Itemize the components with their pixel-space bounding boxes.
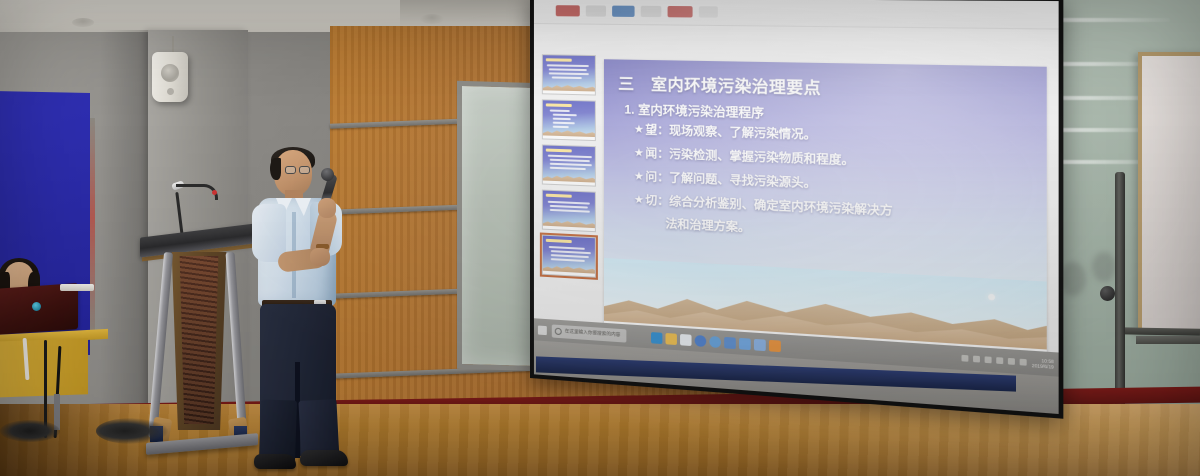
search-input[interactable]: 在这里输入你要搜索的内容 bbox=[552, 324, 627, 342]
thumbnail-text-line bbox=[550, 110, 570, 112]
thumbnail-title-bar bbox=[546, 194, 572, 198]
presenter-shoe-right bbox=[300, 450, 348, 466]
lecture-hall-scene: 三 室内环境污染治理要点 1. 室内环境污染治理程序 ★ 望：现场观察、了解污染… bbox=[0, 0, 1200, 476]
ribbon-tab[interactable] bbox=[586, 5, 606, 16]
projection-screen: 三 室内环境污染治理要点 1. 室内环境污染治理程序 ★ 望：现场观察、了解污染… bbox=[530, 0, 1063, 419]
podium-rail bbox=[148, 252, 173, 438]
floor-cable-bundle bbox=[96, 418, 168, 444]
thumbnail-text-line bbox=[548, 201, 590, 204]
search-icon bbox=[555, 327, 562, 335]
thumbnail-text-line bbox=[550, 163, 592, 166]
glass-reflection-blob bbox=[1060, 262, 1086, 296]
thumbnail-text-line bbox=[552, 76, 582, 78]
thumbnail-base bbox=[543, 135, 596, 140]
chevron-up-icon[interactable] bbox=[985, 356, 992, 363]
word-icon[interactable] bbox=[724, 336, 736, 348]
thumbnail-text-line bbox=[550, 167, 586, 170]
ribbon-tab[interactable] bbox=[668, 6, 693, 18]
explorer-icon[interactable] bbox=[665, 332, 676, 344]
presenter-shoe-left bbox=[254, 454, 296, 469]
seated-attendee bbox=[0, 262, 108, 382]
speaker-tweeter-icon bbox=[167, 88, 174, 95]
thumbnail-text-line bbox=[549, 68, 587, 70]
start-button-icon[interactable] bbox=[538, 325, 547, 335]
list-item[interactable] bbox=[542, 99, 596, 141]
powerpoint-icon[interactable] bbox=[754, 338, 766, 350]
thumbnail-title-bar bbox=[546, 149, 572, 152]
thumbnail-text-line bbox=[551, 254, 589, 258]
active-slide[interactable]: 三 室内环境污染治理要点 1. 室内环境污染治理程序 ★ 望：现场观察、了解污染… bbox=[604, 59, 1047, 367]
podium-mic-indicator-icon bbox=[212, 190, 217, 195]
glasses-icon bbox=[299, 166, 310, 174]
whiteboard-support-arm bbox=[1118, 327, 1200, 335]
thumbnail-title-bar bbox=[546, 58, 572, 61]
thumbnail-text-line bbox=[553, 114, 577, 116]
slide-thumbnail-rail[interactable] bbox=[542, 54, 598, 345]
speaker-cone-icon bbox=[161, 64, 179, 82]
thumbnail-title-bar bbox=[546, 239, 572, 243]
presenter-hair-side bbox=[270, 158, 281, 180]
star-bullet-icon: ★ bbox=[635, 193, 644, 208]
thumbnail-text-line bbox=[549, 72, 589, 74]
edge-icon[interactable] bbox=[651, 332, 662, 344]
thumbnail-text-line bbox=[551, 258, 585, 261]
thumbnail-text-line bbox=[548, 155, 592, 158]
presenter bbox=[238, 150, 368, 476]
glasses-icon bbox=[285, 166, 296, 174]
clock-date: 2019/6/19 bbox=[1032, 363, 1054, 370]
list-item-selected[interactable] bbox=[542, 235, 596, 278]
presenter-hand-left bbox=[310, 248, 330, 266]
thumbnail-title-bar bbox=[546, 103, 572, 106]
powerpoint-workspace: 三 室内环境污染治理要点 1. 室内环境污染治理程序 ★ 望：现场观察、了解污染… bbox=[534, 24, 1059, 352]
thumbnail-text-line bbox=[553, 122, 575, 124]
ribbon-tab[interactable] bbox=[612, 6, 634, 17]
ceiling-vent-icon bbox=[420, 14, 444, 24]
list-item[interactable] bbox=[542, 54, 596, 95]
ribbon-tab[interactable] bbox=[699, 6, 718, 18]
active-app-icon[interactable] bbox=[769, 339, 781, 351]
thumbnail-text-line bbox=[553, 118, 571, 120]
whiteboard-tray bbox=[1136, 336, 1200, 344]
slide-sun-icon bbox=[988, 294, 995, 301]
thumbnail-text-line bbox=[547, 64, 589, 66]
thumbnail-text-line bbox=[550, 159, 590, 162]
list-item: ★ 望：现场观察、了解污染情况。 bbox=[635, 123, 1038, 150]
list-item[interactable] bbox=[542, 189, 596, 232]
ribbon-tab[interactable] bbox=[556, 5, 580, 16]
presenter-hand-right bbox=[318, 198, 336, 218]
slide-subtitle: 1. 室内环境污染治理程序 bbox=[624, 100, 764, 121]
thumbnail-text-line bbox=[551, 250, 591, 254]
bullet-text: 闻：污染检测、掌握污染物质和程度。 bbox=[645, 147, 854, 169]
list-item[interactable] bbox=[542, 144, 596, 186]
thumbnail-text-line bbox=[550, 209, 590, 212]
input-method-icon[interactable] bbox=[1020, 359, 1027, 366]
thumbnail-text-line bbox=[549, 246, 585, 249]
volume-icon[interactable] bbox=[1008, 358, 1015, 365]
projection-screen-surface: 三 室内环境污染治理要点 1. 室内环境污染治理程序 ★ 望：现场观察、了解污染… bbox=[534, 0, 1059, 414]
taskbar-pinned-icons[interactable] bbox=[651, 332, 781, 352]
slide-title: 三 室内环境污染治理要点 bbox=[618, 72, 821, 99]
pen-icon[interactable] bbox=[973, 356, 980, 363]
whiteboard bbox=[1138, 52, 1200, 334]
star-bullet-icon: ★ bbox=[635, 170, 644, 185]
floor-cable-bundle bbox=[0, 420, 60, 442]
star-bullet-icon: ★ bbox=[635, 146, 644, 161]
glass-reflection-blob bbox=[1092, 252, 1116, 282]
laptop-logo-icon bbox=[32, 302, 41, 311]
browser-icon[interactable] bbox=[695, 334, 707, 346]
excel-icon[interactable] bbox=[739, 337, 751, 349]
thumbnail-text-line bbox=[553, 126, 569, 128]
bullet-text: 问：了解问题、寻找污染源头。 bbox=[645, 170, 816, 191]
power-strip bbox=[60, 284, 94, 291]
store-icon[interactable] bbox=[680, 333, 691, 345]
search-placeholder: 在这里输入你要搜索的内容 bbox=[565, 328, 621, 338]
bullet-text: 望：现场观察、了解污染情况。 bbox=[645, 123, 816, 143]
ribbon-tab[interactable] bbox=[641, 6, 662, 17]
thumbnail-text-line bbox=[550, 205, 588, 208]
taskbar-clock[interactable]: 10:58 2019/6/19 bbox=[1032, 357, 1054, 370]
notification-icon[interactable] bbox=[962, 355, 969, 362]
thumbnail-base bbox=[543, 90, 596, 94]
star-bullet-icon: ★ bbox=[635, 123, 644, 138]
network-icon[interactable] bbox=[997, 357, 1004, 364]
whiteboard-adjust-knob[interactable] bbox=[1100, 286, 1115, 301]
chrome-icon[interactable] bbox=[709, 335, 721, 347]
taskbar-system-tray[interactable]: 10:58 2019/6/19 bbox=[962, 352, 1059, 370]
ceiling-vent-icon bbox=[72, 18, 94, 27]
slide-bullet-list: ★ 望：现场观察、了解污染情况。 ★ 闻：污染检测、掌握污染物质和程度。 ★ 问… bbox=[635, 123, 1038, 249]
